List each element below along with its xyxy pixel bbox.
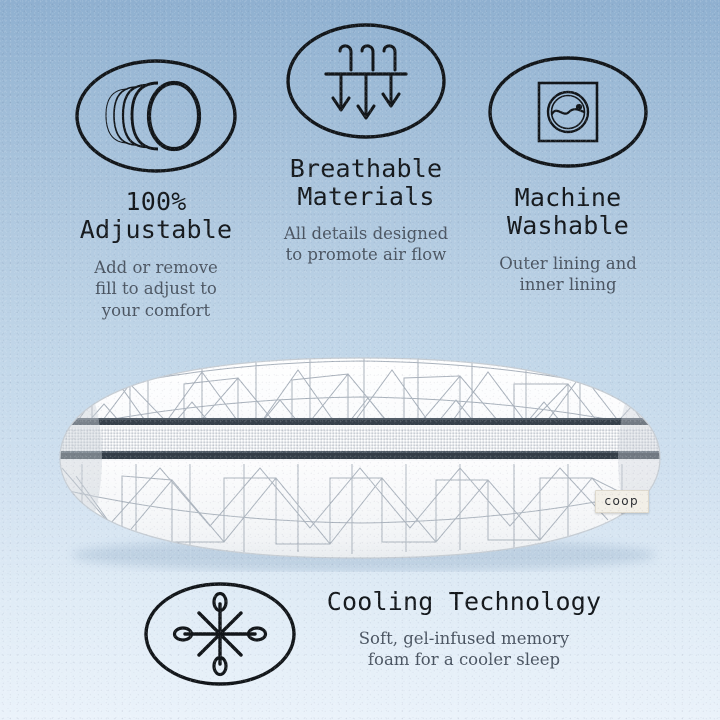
cooling-sub-line1: Soft, gel-infused memory — [318, 628, 610, 649]
adjustable-title-line2: Adjustable — [40, 216, 272, 244]
cooling-badge — [140, 578, 300, 690]
breathable-title-line2: Materials — [250, 183, 482, 211]
feature-cooling: Cooling Technology Soft, gel-infused mem… — [140, 578, 610, 690]
washable-badge — [452, 52, 684, 172]
washable-subtitle: Outer lining and inner lining — [452, 253, 684, 296]
adjustable-sub-line1: Add or remove — [40, 257, 272, 278]
snowflake-icon — [140, 578, 300, 690]
pillow-photo: coop — [52, 344, 668, 572]
nested-rings-icon — [73, 56, 239, 176]
cooling-sub-line2: foam for a cooler sleep — [318, 649, 610, 670]
washable-title-line2: Washable — [452, 212, 684, 240]
cooling-subtitle: Soft, gel-infused memory foam for a cool… — [318, 628, 610, 671]
breathable-sub-line1: All details designed — [250, 223, 482, 244]
breathable-badge — [250, 18, 482, 144]
adjustable-sub-line3: your comfort — [40, 300, 272, 321]
adjustable-subtitle: Add or remove fill to adjust to your com… — [40, 257, 272, 321]
washing-machine-icon — [485, 52, 651, 172]
breathable-subtitle: All details designed to promote air flow — [250, 223, 482, 266]
breathable-title-line1: Breathable — [250, 155, 482, 183]
pillow-illustration — [52, 344, 668, 572]
breathable-sub-line2: to promote air flow — [250, 244, 482, 265]
feature-adjustable: 100% Adjustable Add or remove fill to ad… — [40, 56, 272, 321]
adjustable-sub-line2: fill to adjust to — [40, 278, 272, 299]
infographic-page: 100% Adjustable Add or remove fill to ad… — [0, 0, 720, 720]
adjustable-badge — [40, 56, 272, 176]
feature-breathable: Breathable Materials All details designe… — [250, 18, 482, 266]
washable-title-line1: Machine — [452, 184, 684, 212]
feature-washable: Machine Washable Outer lining and inner … — [452, 52, 684, 296]
airflow-arrows-icon — [283, 18, 449, 144]
washable-sub-line2: inner lining — [452, 274, 684, 295]
adjustable-title: 100% Adjustable — [40, 188, 272, 244]
breathable-title: Breathable Materials — [250, 155, 482, 211]
washable-sub-line1: Outer lining and — [452, 253, 684, 274]
adjustable-title-line1: 100% — [40, 188, 272, 216]
washable-title: Machine Washable — [452, 184, 684, 240]
cooling-text-block: Cooling Technology Soft, gel-infused mem… — [318, 578, 610, 671]
cooling-title: Cooling Technology — [318, 588, 610, 616]
coop-brand-tag: coop — [595, 490, 650, 513]
